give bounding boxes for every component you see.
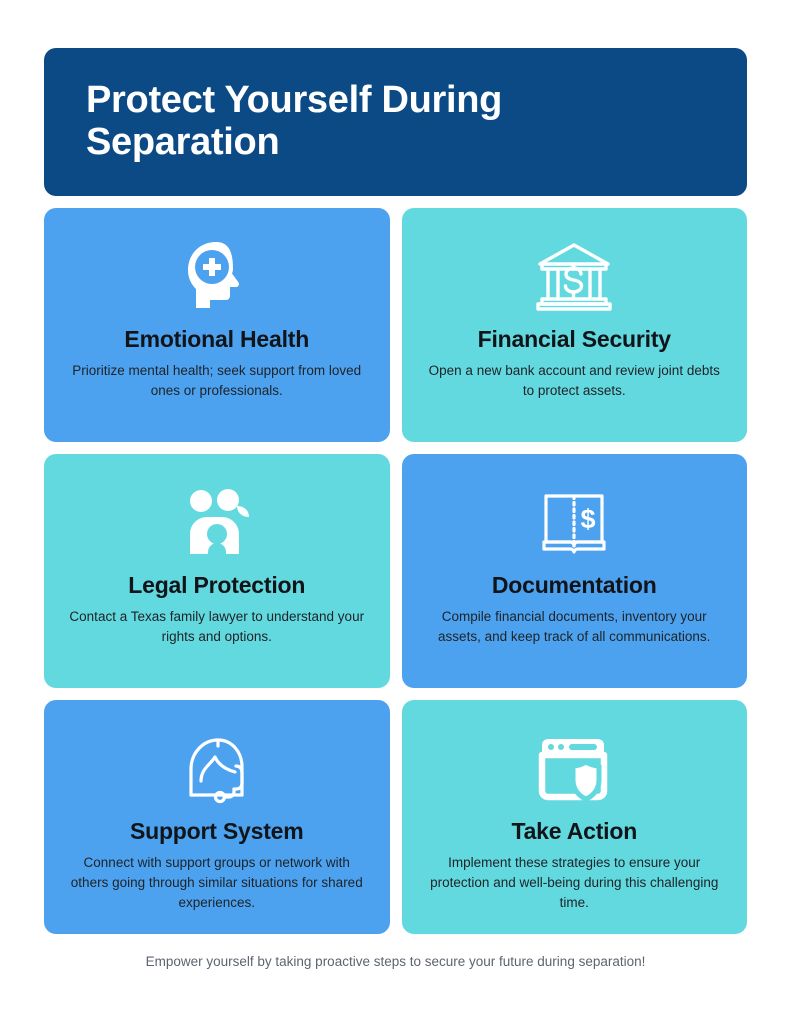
infographic-page: Protect Yourself During Separation Emoti… bbox=[0, 0, 791, 1024]
family-people-icon bbox=[179, 480, 255, 566]
head-plus-icon bbox=[180, 234, 254, 320]
svg-text:$: $ bbox=[581, 504, 596, 534]
browser-shield-icon bbox=[536, 726, 612, 812]
card-title: Take Action bbox=[511, 818, 637, 844]
card-description: Implement these strategies to ensure you… bbox=[426, 853, 724, 912]
card-description: Open a new bank account and review joint… bbox=[426, 361, 724, 400]
card-title: Legal Protection bbox=[128, 572, 305, 598]
card-support-system[interactable]: Support System Connect with support grou… bbox=[44, 700, 390, 934]
page-title: Protect Yourself During Separation bbox=[86, 80, 705, 164]
card-grid: Emotional Health Prioritize mental healt… bbox=[44, 208, 747, 934]
card-documentation[interactable]: $ Documentation Compile financial docume… bbox=[402, 454, 748, 688]
card-description: Prioritize mental health; seek support f… bbox=[68, 361, 366, 400]
card-title: Documentation bbox=[492, 572, 657, 598]
card-legal-protection[interactable]: Legal Protection Contact a Texas family … bbox=[44, 454, 390, 688]
card-financial-security[interactable]: Financial Security Open a new bank accou… bbox=[402, 208, 748, 442]
card-description: Connect with support groups or network w… bbox=[68, 853, 366, 912]
card-emotional-health[interactable]: Emotional Health Prioritize mental healt… bbox=[44, 208, 390, 442]
header-banner: Protect Yourself During Separation bbox=[44, 48, 747, 196]
footer-note: Empower yourself by taking proactive ste… bbox=[44, 954, 747, 969]
card-take-action[interactable]: Take Action Implement these strategies t… bbox=[402, 700, 748, 934]
bank-dollar-icon bbox=[534, 234, 614, 320]
card-description: Contact a Texas family lawyer to underst… bbox=[68, 607, 366, 646]
card-description: Compile financial documents, inventory y… bbox=[426, 607, 724, 646]
card-title: Emotional Health bbox=[124, 326, 309, 352]
card-title: Support System bbox=[130, 818, 304, 844]
card-title: Financial Security bbox=[478, 326, 671, 352]
headset-agent-icon bbox=[179, 726, 255, 812]
open-book-dollar-icon: $ bbox=[536, 480, 612, 566]
